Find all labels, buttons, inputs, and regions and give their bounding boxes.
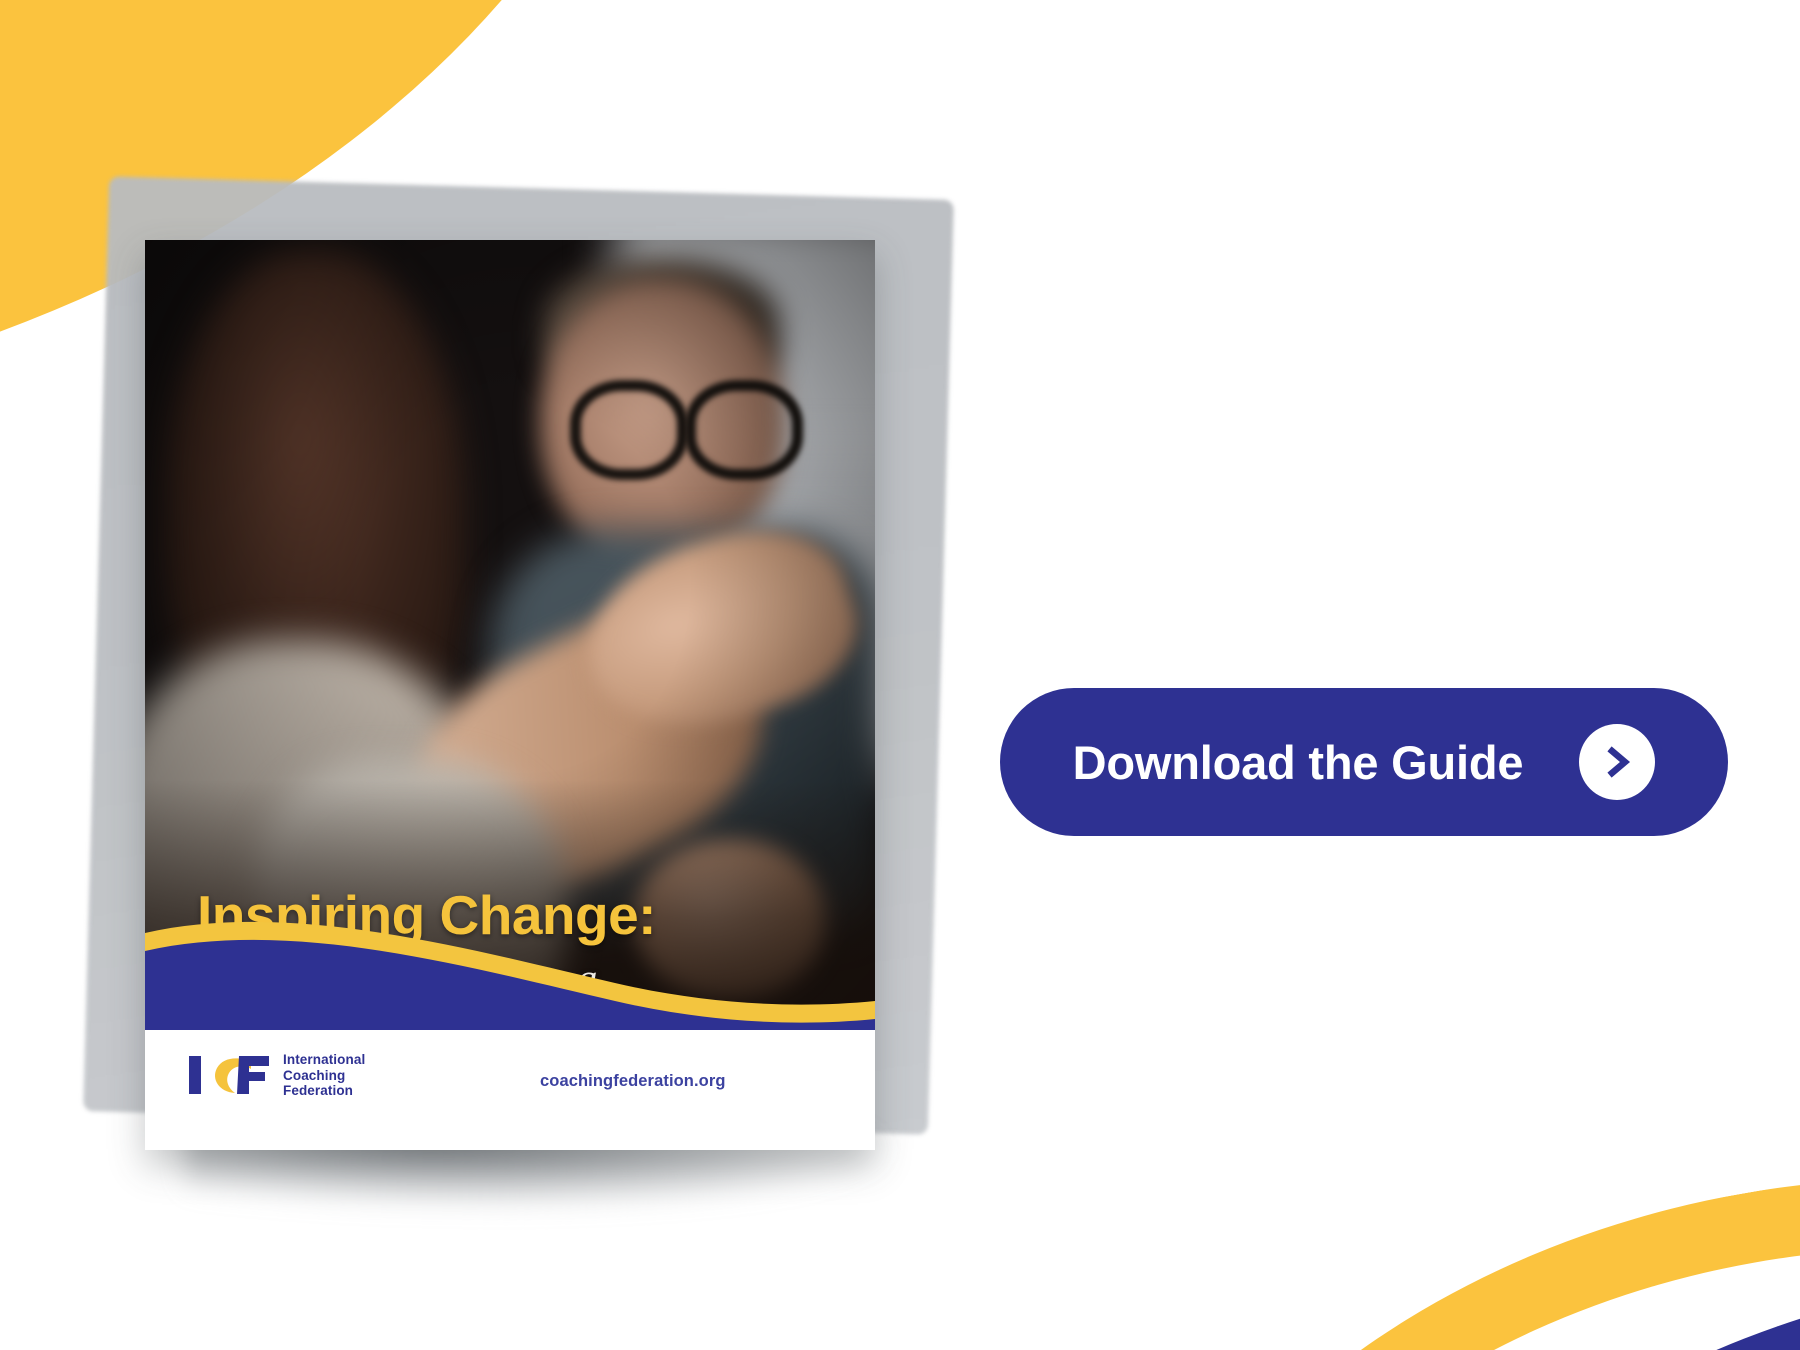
chevron-right-icon[interactable] <box>1579 724 1655 800</box>
icf-wordmark: International Coaching Federation <box>283 1052 365 1099</box>
guide-cover-group: Inspiring Change: A Guide to Becoming a … <box>0 0 1000 1350</box>
guide-cover[interactable]: Inspiring Change: A Guide to Becoming a … <box>145 240 875 1150</box>
cover-website-url: coachingfederation.org <box>540 1072 726 1091</box>
icf-wordmark-line-2: Coaching <box>283 1068 365 1084</box>
cover-footer: International Coaching Federation coachi… <box>145 1030 875 1150</box>
cover-wave-divider <box>145 915 875 1030</box>
page-root: Inspiring Change: A Guide to Becoming a … <box>0 0 1800 1350</box>
icf-wordmark-line-1: International <box>283 1052 365 1068</box>
icf-monogram-icon <box>187 1052 273 1098</box>
download-button-label: Download the Guide <box>1073 735 1524 790</box>
icf-logo: International Coaching Federation <box>187 1052 365 1099</box>
icf-wordmark-line-3: Federation <box>283 1083 365 1099</box>
download-the-guide-button[interactable]: Download the Guide <box>1000 688 1728 836</box>
decor-bottom-right-yellow-arc <box>1004 1063 1800 1350</box>
